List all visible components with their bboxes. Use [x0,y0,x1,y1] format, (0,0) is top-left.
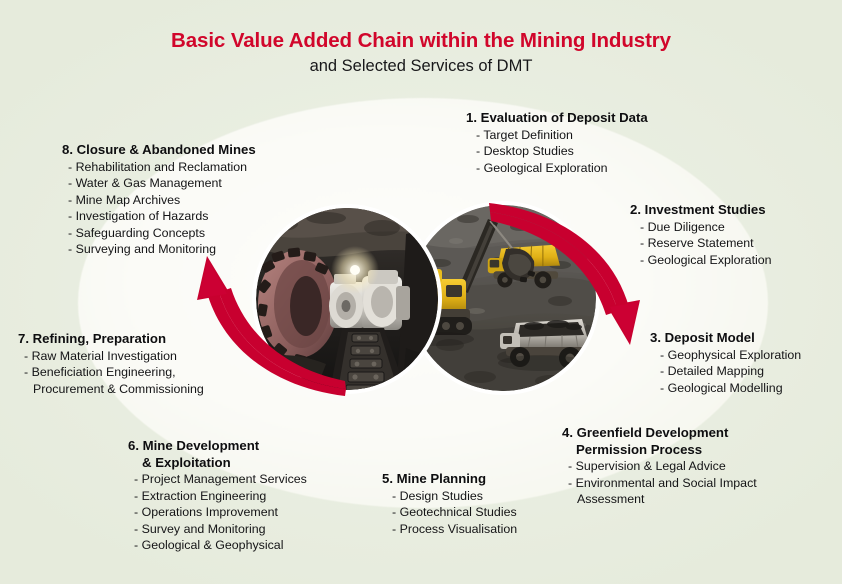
stage-1-list: - Target Definition - Desktop Studies - … [466,127,648,177]
stage-3-item: - Detailed Mapping [660,363,801,380]
page-title: Basic Value Added Chain within the Minin… [0,28,842,77]
stage-3-item: - Geological Modelling [660,380,801,397]
stage-5-item: - Design Studies [392,488,517,505]
stage-2-item: - Due Diligence [640,219,772,236]
stage-6-item: - Survey and Monitoring [134,521,307,538]
stage-6-item: - Extraction Engineering [134,488,307,505]
infographic-canvas: Basic Value Added Chain within the Minin… [0,0,842,584]
stage-8-item: - Water & Gas Management [68,175,256,192]
stage-8-heading: 8. Closure & Abandoned Mines [62,142,256,159]
stage-2-item: - Geological Exploration [640,252,772,269]
stage-8-item: - Investigation of Hazards [68,208,256,225]
stage-3-list: - Geophysical Exploration - Detailed Map… [650,347,801,397]
stage-4-item: - Supervision & Legal Advice [568,458,832,475]
stage-2-list: - Due Diligence - Reserve Statement - Ge… [630,219,772,269]
stage-4-block: 4. Greenfield Development Permission Pro… [562,425,832,508]
stage-6-heading-line2: & Exploitation [128,455,307,472]
title-subtitle: and Selected Services of DMT [0,56,842,77]
stage-4-heading: 4. Greenfield Development [562,425,832,442]
stage-8-item: - Surveying and Monitoring [68,241,256,258]
stage-5-list: - Design Studies - Geotechnical Studies … [382,488,517,538]
stage-8-list: - Rehabilitation and Reclamation - Water… [62,159,256,258]
stage-3-item: - Geophysical Exploration [660,347,801,364]
stage-8-item: - Safeguarding Concepts [68,225,256,242]
stage-8-item: - Rehabilitation and Reclamation [68,159,256,176]
stage-7-heading: 7. Refining, Preparation [18,331,204,348]
stage-8-item: - Mine Map Archives [68,192,256,209]
stage-6-block: 6. Mine Development & Exploitation - Pro… [128,438,307,554]
stage-6-item: - Project Management Services [134,471,307,488]
stage-1-item: - Target Definition [476,127,648,144]
stage-7-list: - Raw Material Investigation - Beneficia… [18,348,204,398]
stage-5-item: - Geotechnical Studies [392,504,517,521]
stage-6-item: - Operations Improvement [134,504,307,521]
stage-5-heading: 5. Mine Planning [382,471,517,488]
stage-2-block: 2. Investment Studies - Due Diligence - … [630,202,772,268]
stage-1-item: - Desktop Studies [476,143,648,160]
stage-5-block: 5. Mine Planning - Design Studies - Geot… [382,471,517,537]
stage-4-heading-line2: Permission Process [562,442,832,459]
stage-4-item: - Environmental and Social Impact [568,475,832,492]
stage-7-item-continuation: Procurement & Commissioning [24,381,204,398]
stage-3-heading: 3. Deposit Model [650,330,801,347]
stage-1-block: 1. Evaluation of Deposit Data - Target D… [466,110,648,176]
title-main: Basic Value Added Chain within the Minin… [0,28,842,54]
underground-mining-machine-photo [256,208,438,390]
stage-1-heading: 1. Evaluation of Deposit Data [466,110,648,127]
stage-3-block: 3. Deposit Model - Geophysical Explorati… [650,330,801,396]
stage-7-item: - Beneficiation Engineering, [24,364,204,381]
stage-2-heading: 2. Investment Studies [630,202,772,219]
stage-7-block: 7. Refining, Preparation - Raw Material … [18,331,204,397]
stage-7-item: - Raw Material Investigation [24,348,204,365]
stage-1-item: - Geological Exploration [476,160,648,177]
stage-2-item: - Reserve Statement [640,235,772,252]
stage-6-list: - Project Management Services - Extracti… [128,471,307,554]
stage-8-block: 8. Closure & Abandoned Mines - Rehabilit… [62,142,256,258]
stage-4-list: - Supervision & Legal Advice - Environme… [562,458,832,508]
stage-6-item: - Geological & Geophysical [134,537,307,554]
stage-4-item-continuation: Assessment [568,491,832,508]
stage-6-heading: 6. Mine Development [128,438,307,455]
stage-5-item: - Process Visualisation [392,521,517,538]
